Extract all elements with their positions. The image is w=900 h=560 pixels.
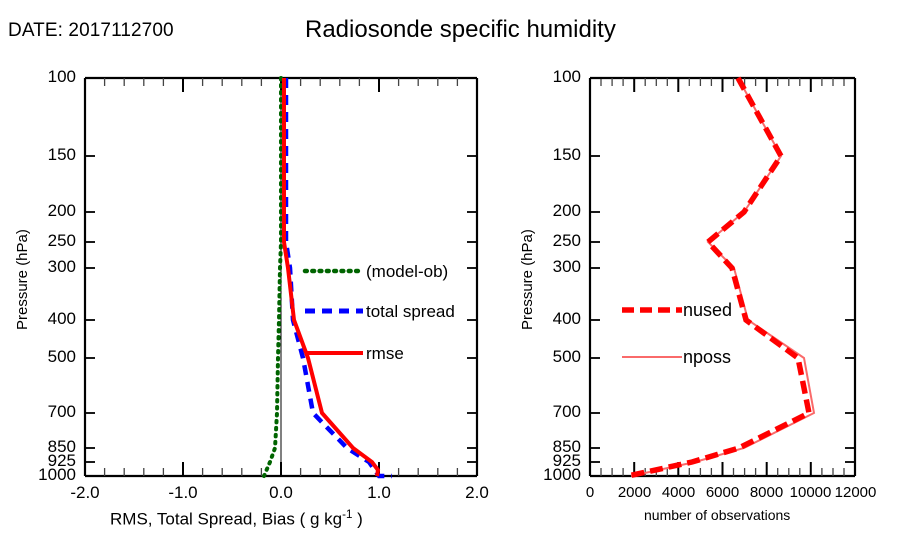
chart-page: DATE: 2017112700 Radiosonde specific hum…	[0, 0, 900, 560]
legend-label-nused: nused	[683, 300, 732, 321]
right-panel: Pressure (hPa)	[0, 0, 900, 560]
right-legend-swatches	[0, 0, 900, 560]
legend-label-nposs: nposs	[683, 347, 731, 368]
